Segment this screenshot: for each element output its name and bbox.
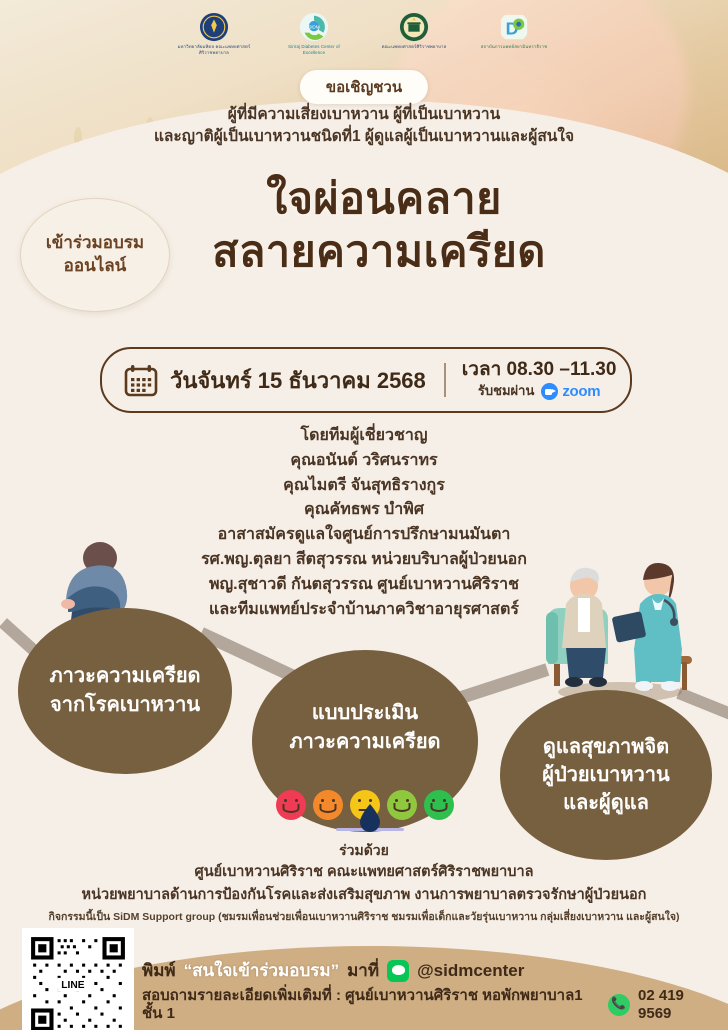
logo-item: มหาวิทยาลัยมหิดล คณะแพทยศาสตร์ศิริราชพยา…: [177, 12, 251, 55]
audience-line-2: และญาติผู้เป็นเบาหวานชนิดที่1 ผู้ดูแลผู้…: [0, 126, 728, 148]
speaker-item: รศ.พญ.ตุลยา สีตสุวรรณ หน่วยบริบาลผู้ป่วย…: [0, 548, 728, 573]
register-mid: มาที่: [347, 961, 379, 981]
speaker-heading: โดยทีมผู้เชี่ยวชาญ: [0, 424, 728, 449]
register-quote: “สนใจเข้าร่วมอบรม”: [184, 961, 339, 981]
topic-line: แบบประเมิน: [289, 699, 440, 728]
logo-row: มหาวิทยาลัยมหิดล คณะแพทยศาสตร์ศิริราชพยา…: [0, 12, 728, 55]
credits-note: กิจกรรมนี้เป็น SiDM Support group (ชมรมเ…: [0, 910, 728, 926]
siam-institute-logo-icon: D: [499, 12, 529, 42]
register-prefix: พิมพ์: [142, 961, 176, 981]
speaker-item: คุณคัทธพร บำพิศ: [0, 498, 728, 523]
speaker-item: และทีมแพทย์ประจำบ้านภาควิชาอายุรศาสตร์: [0, 598, 728, 623]
contact-text: สอบถามรายละเอียดเพิ่มเติมที่ : ศูนย์เบาห…: [142, 987, 600, 1023]
phone-number[interactable]: 02 419 9569: [638, 987, 718, 1023]
logo-caption: สถาบันการแพทย์สยามินทราธิราช: [481, 44, 547, 50]
line-id[interactable]: @sidmcenter: [417, 961, 524, 981]
logo-caption: คณะแพทยศาสตร์ศิริราชพยาบาล: [382, 44, 447, 50]
sidm-logo-icon: SiDM: [299, 12, 329, 42]
online-training-badge: เข้าร่วมอบรม ออนไลน์: [20, 198, 170, 312]
logo-item: SiDM Siriraj Diabetes Center of Excellen…: [277, 12, 351, 55]
watch-via-group: รับชมผ่าน zoom: [478, 383, 600, 400]
topic-line: ภาวะความเครียด: [289, 728, 440, 757]
footer-contact-line: สอบถามรายละเอียดเพิ่มเติมที่ : ศูนย์เบาห…: [142, 987, 718, 1023]
online-badge-line-2: ออนไลน์: [64, 255, 127, 278]
topic-line: ภาวะความเครียด: [49, 662, 200, 691]
watch-via-label: รับชมผ่าน: [478, 384, 534, 399]
topic-line: และผู้ดูแล: [563, 789, 649, 817]
schedule-time-group: เวลา 08.30 –11.30 รับชมผ่าน zoom: [462, 359, 617, 400]
qr-line-label: LINE: [61, 980, 84, 991]
topic-line: ดูแลสุขภาพจิต: [543, 733, 669, 761]
line-qr-code[interactable]: LINE: [22, 928, 134, 1030]
location-pin-marker-icon: [330, 800, 410, 836]
schedule-divider: [444, 363, 446, 397]
phone-icon: [608, 994, 630, 1016]
svg-text:SiDM: SiDM: [308, 25, 320, 30]
topic-bubble-mental-health-care[interactable]: ดูแลสุขภาพจิต ผู้ป่วยเบาหวาน และผู้ดูแล: [500, 690, 712, 860]
logo-item: คณะแพทยศาสตร์ศิริราชพยาบาล: [377, 12, 451, 50]
speaker-item: คุณไมตรี จันสุทธิรางกูร: [0, 474, 728, 499]
zoom-platform-name: zoom: [562, 383, 600, 400]
credits-line-2: หน่วยพยาบาลด้านการป้องกันโรคและส่งเสริมส…: [0, 884, 728, 907]
speaker-item: อาสาสมัครดูแลใจศูนย์การปรึกษามนมันตา: [0, 523, 728, 548]
logo-caption: Siriraj Diabetes Center of Excellence: [277, 44, 351, 55]
footer-contact-block: พิมพ์ “สนใจเข้าร่วมอบรม” มาที่ @sidmcent…: [142, 960, 718, 1023]
credits-with-label: ร่วมด้วย: [0, 840, 728, 861]
mahidol-university-logo-icon: [199, 12, 229, 42]
logo-caption: มหาวิทยาลัยมหิดล คณะแพทยศาสตร์ศิริราชพยา…: [177, 44, 251, 55]
speaker-item: พญ.สุชาวดี กันตสุวรรณ ศูนย์เบาหวานศิริรา…: [0, 573, 728, 598]
schedule-date-group: วันจันทร์ 15 ธันวาคม 2568: [102, 363, 426, 398]
speaker-list: โดยทีมผู้เชี่ยวชาญ คุณอนันต์ วริศนราทร ค…: [0, 424, 728, 622]
poster-canvas: มหาวิทยาลัยมหิดล คณะแพทยศาสตร์ศิริราชพยา…: [0, 0, 728, 1030]
schedule-time: เวลา 08.30 –11.30: [462, 359, 617, 381]
very-sad-face-icon[interactable]: [276, 790, 306, 820]
logo-item: D สถาบันการแพทย์สยามินทราธิราช: [477, 12, 551, 50]
credits-block: ร่วมด้วย ศูนย์เบาหวานศิริราช คณะแพทยศาสต…: [0, 840, 728, 926]
zoom-camera-icon: [541, 383, 558, 400]
audience-line-1: ผู้ที่มีความเสี่ยงเบาหวาน ผู้ที่เป็นเบาห…: [0, 104, 728, 126]
topic-text: แบบประเมิน ภาวะความเครียด: [289, 699, 440, 757]
credits-line-1: ศูนย์เบาหวานศิริราช คณะแพทยศาสตร์ศิริราช…: [0, 861, 728, 884]
siriraj-faculty-logo-icon: [399, 12, 429, 42]
zoom-badge: zoom: [541, 383, 600, 400]
footer-register-line: พิมพ์ “สนใจเข้าร่วมอบรม” มาที่ @sidmcent…: [142, 960, 718, 982]
topic-line: จากโรคเบาหวาน: [50, 691, 200, 720]
speaker-item: คุณอนันต์ วริศนราทร: [0, 449, 728, 474]
calendar-icon: [124, 363, 158, 397]
line-app-icon[interactable]: [387, 960, 409, 982]
audience-lines: ผู้ที่มีความเสี่ยงเบาหวาน ผู้ที่เป็นเบาห…: [0, 104, 728, 149]
very-happy-face-icon[interactable]: [424, 790, 454, 820]
topic-bubble-stress-from-diabetes[interactable]: ภาวะความเครียด จากโรคเบาหวาน: [18, 608, 232, 774]
topic-line: ผู้ป่วยเบาหวาน: [542, 761, 669, 789]
online-badge-line-1: เข้าร่วมอบรม: [46, 232, 144, 255]
invite-pill: ขอเชิญชวน: [300, 70, 428, 104]
schedule-bar: วันจันทร์ 15 ธันวาคม 2568 เวลา 08.30 –11…: [100, 347, 632, 413]
schedule-date: วันจันทร์ 15 ธันวาคม 2568: [170, 363, 426, 398]
qr-code-image: LINE: [27, 933, 129, 1030]
